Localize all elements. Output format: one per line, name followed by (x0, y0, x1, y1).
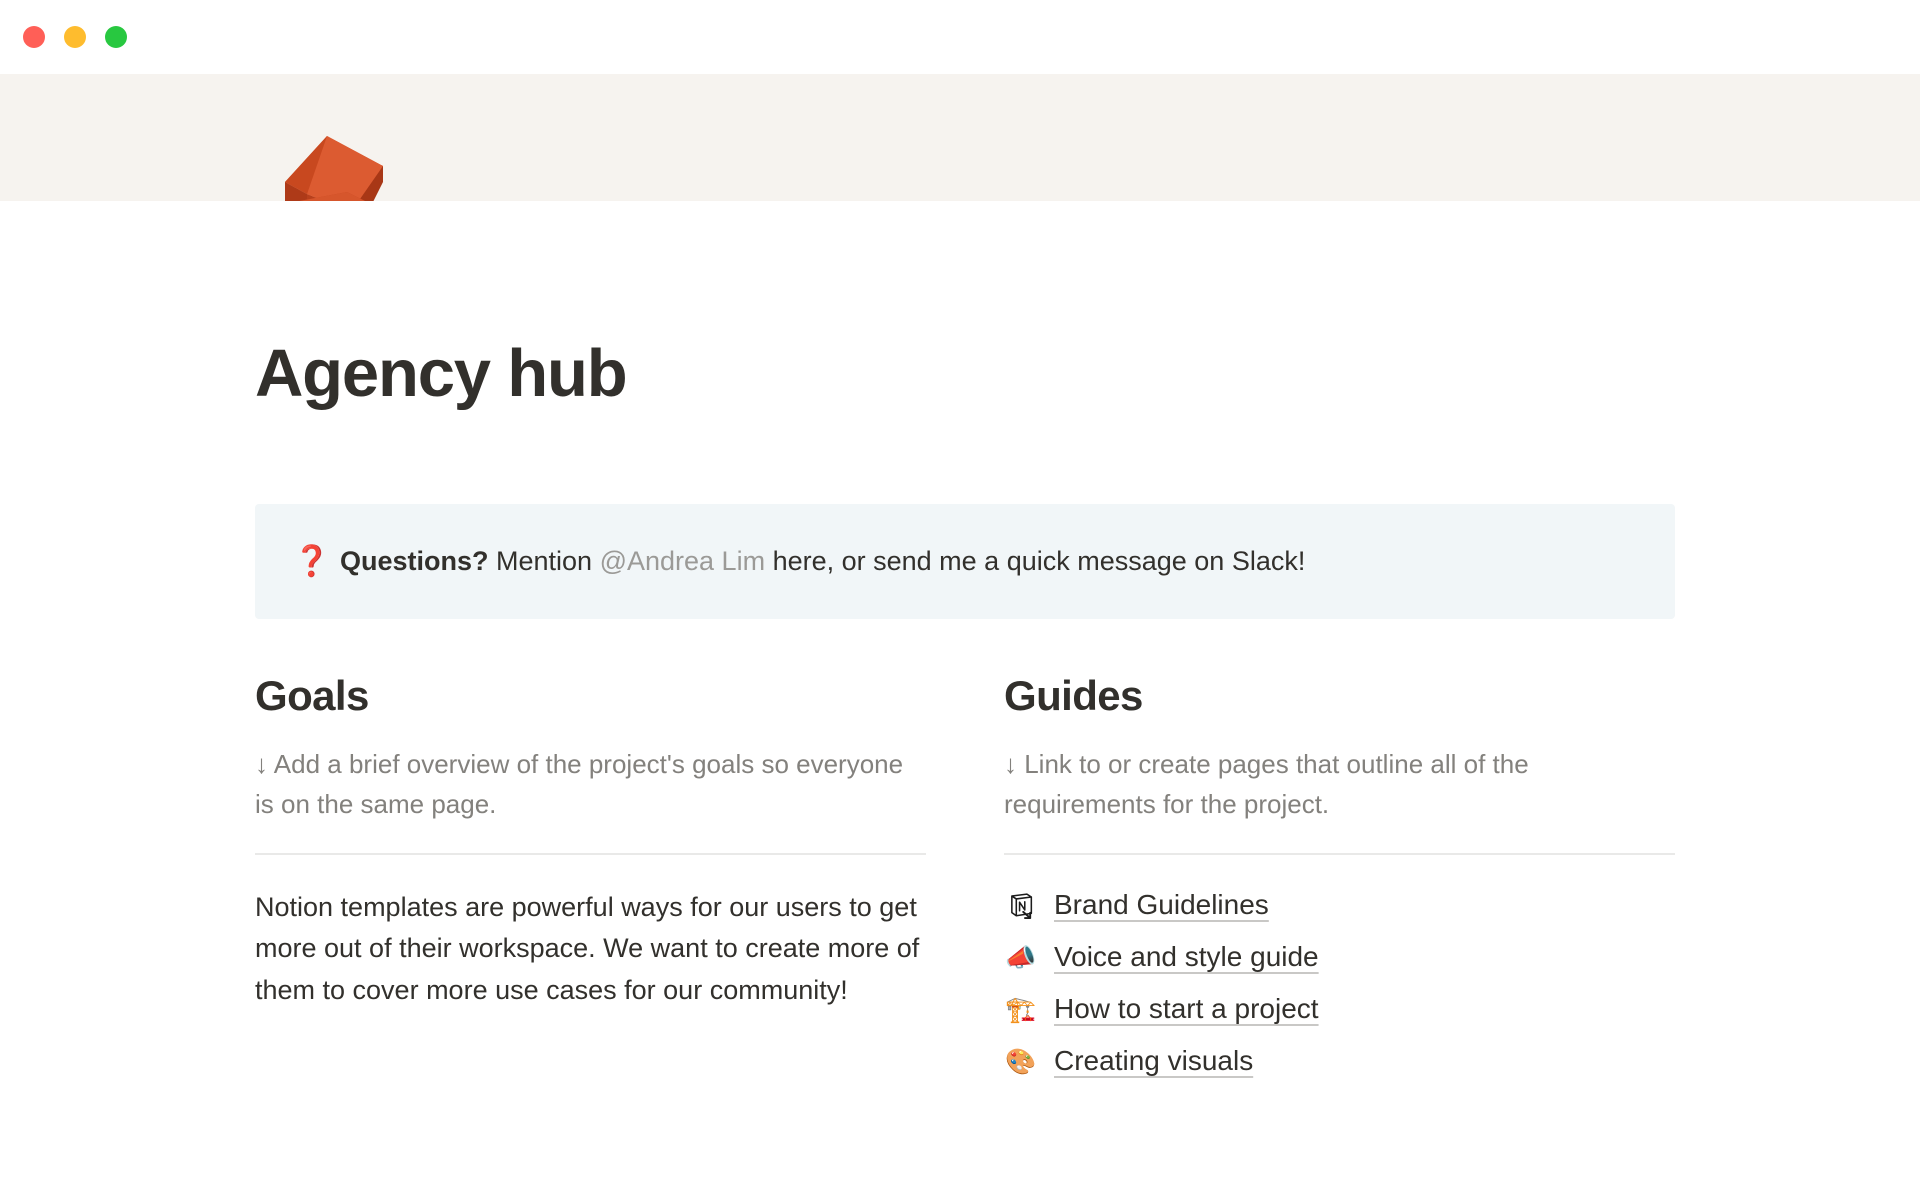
page-title[interactable]: Agency hub (255, 336, 1675, 411)
goals-divider (255, 853, 926, 855)
list-item[interactable]: 🎨 Creating visuals (1004, 1035, 1675, 1087)
window-titlebar (0, 0, 1920, 74)
guide-link-label[interactable]: How to start a project (1054, 993, 1319, 1025)
callout-text-after-mention: here, or send me a quick message on Slac… (765, 546, 1305, 576)
page-content: Agency hub ❓ Questions? Mention @Andrea … (255, 201, 1675, 1087)
callout-text-before-mention: Mention (489, 546, 600, 576)
maximize-window-button[interactable] (105, 26, 127, 48)
list-item[interactable]: Brand Guidelines (1004, 879, 1675, 931)
guide-link-label[interactable]: Brand Guidelines (1054, 889, 1269, 921)
red-question-mark-icon: ❓ (293, 547, 329, 577)
construction-crane-icon: 🏗️ (1004, 997, 1038, 1022)
goals-hint-text: ↓ Add a brief overview of the project's … (255, 745, 926, 824)
notion-page-link-icon (1004, 892, 1038, 919)
user-mention[interactable]: @Andrea Lim (600, 546, 765, 576)
close-window-button[interactable] (23, 26, 45, 48)
artist-palette-icon: 🎨 (1004, 1049, 1038, 1074)
guide-link-label[interactable]: Creating visuals (1054, 1045, 1253, 1077)
list-item[interactable]: 🏗️ How to start a project (1004, 983, 1675, 1035)
list-item[interactable]: 📣 Voice and style guide (1004, 931, 1675, 983)
guide-link-label[interactable]: Voice and style guide (1054, 941, 1319, 973)
goals-body-text[interactable]: Notion templates are powerful ways for o… (255, 887, 926, 1010)
column-goals: Goals ↓ Add a brief overview of the proj… (255, 671, 926, 1087)
minimize-window-button[interactable] (64, 26, 86, 48)
page-document: Agency hub ❓ Questions? Mention @Andrea … (0, 201, 1920, 1200)
goals-heading[interactable]: Goals (255, 671, 926, 721)
column-guides: Guides ↓ Link to or create pages that ou… (1004, 671, 1675, 1087)
guides-heading[interactable]: Guides (1004, 671, 1675, 721)
callout-text: Questions? Mention @Andrea Lim here, or … (340, 542, 1305, 581)
megaphone-icon: 📣 (1004, 945, 1038, 970)
guides-divider (1004, 853, 1675, 855)
guides-link-list: Brand Guidelines 📣 Voice and style guide… (1004, 879, 1675, 1087)
window-traffic-lights (23, 26, 127, 48)
column-list: Goals ↓ Add a brief overview of the proj… (255, 671, 1675, 1087)
guides-hint-text: ↓ Link to or create pages that outline a… (1004, 745, 1675, 824)
callout-bold-lead: Questions? (340, 546, 489, 576)
callout-block[interactable]: ❓ Questions? Mention @Andrea Lim here, o… (255, 504, 1675, 619)
